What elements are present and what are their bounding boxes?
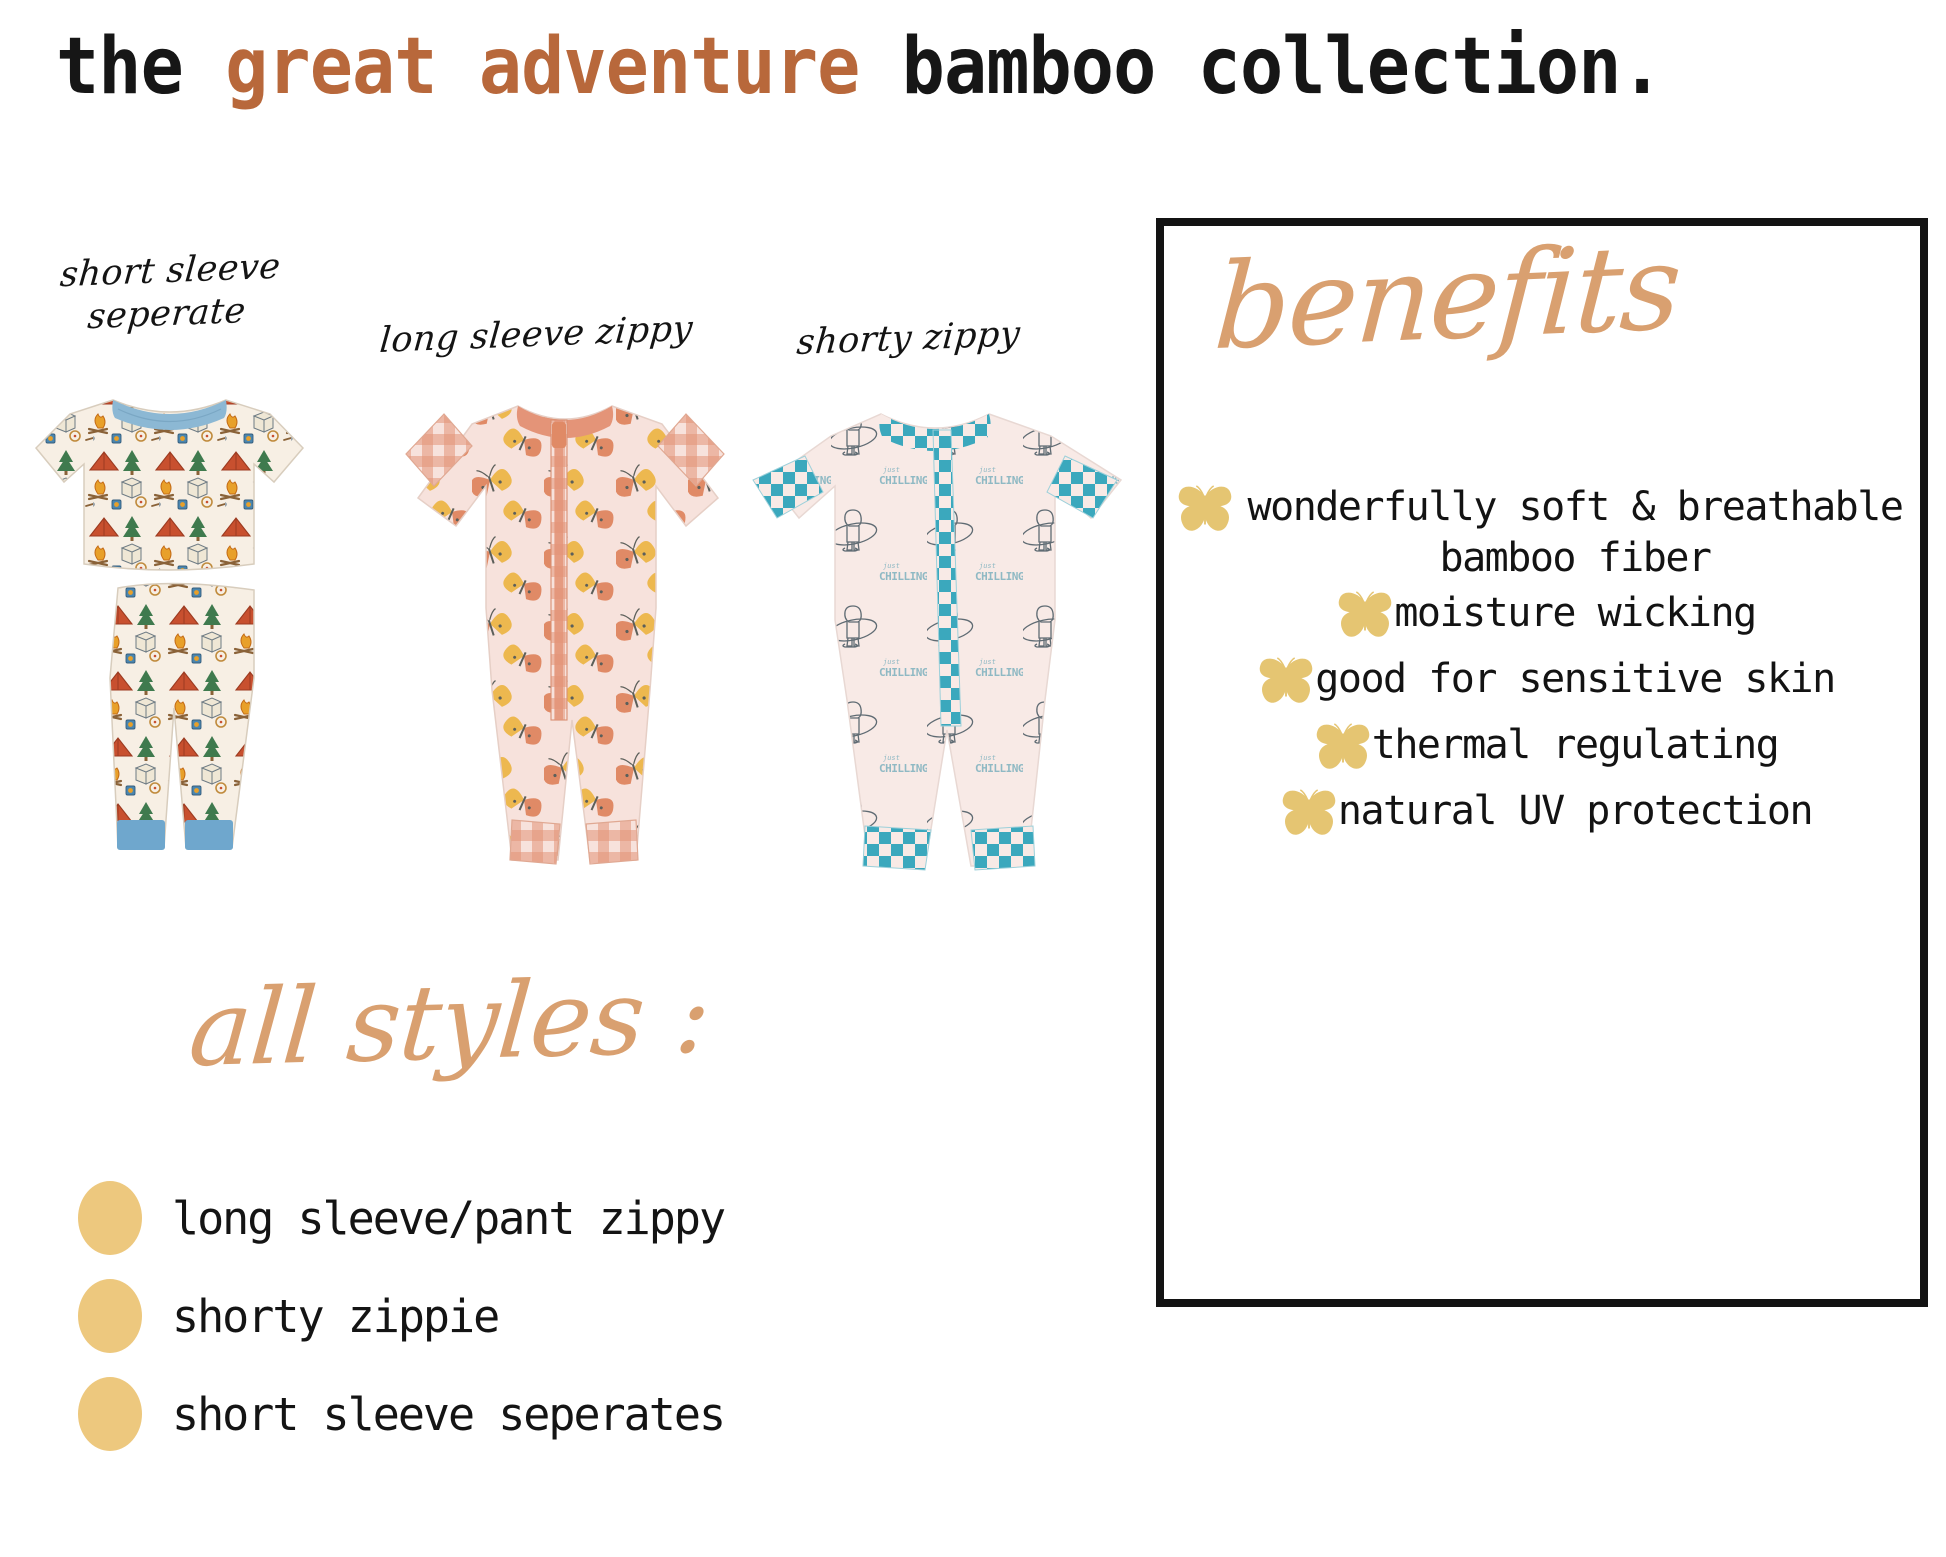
benefit-item: natural UV protection [1176,784,1916,848]
product-label-long-sleeve-zippy: long sleeve zippy [378,308,695,363]
benefit-text: wonderfully soft & breathable bamboo fib… [1234,480,1916,584]
benefits-heading: benefits [1211,217,1684,376]
all-styles-heading: all styles : [185,954,714,1090]
benefit-item: good for sensitive skin [1176,652,1916,716]
product-label-short-sleeve-seperate: short sleeve seperate [40,245,297,340]
product-image-long-sleeve-zippy[interactable] [400,390,730,880]
butterfly-icon [1257,656,1315,710]
page-title-highlight: great adventure [225,22,859,112]
chilling-romper [753,414,1121,870]
benefit-text: thermal regulating [1372,718,1778,771]
style-item: short sleeve seperates [78,1376,978,1452]
product-image-shorty-zippy[interactable]: just CHILLING [735,400,1135,890]
style-item: long sleeve/pant zippy [78,1180,978,1256]
benefit-text: good for sensitive skin [1315,652,1834,705]
butterfly-icon [1336,590,1394,644]
butterfly-icon [1314,722,1372,776]
benefit-item: thermal regulating [1176,718,1916,782]
benefit-text: natural UV protection [1338,784,1812,837]
butterfly-icon [1280,788,1338,842]
page-title-part2: bamboo collection. [859,22,1662,112]
style-label: shorty zippie [172,1290,498,1343]
butterfly-icon [1176,484,1234,538]
camp-tee [36,400,303,570]
circle-bullet-icon [78,1279,142,1353]
style-label: short sleeve seperates [172,1388,724,1441]
all-styles-list: long sleeve/pant zippy shorty zippie sho… [78,1180,978,1474]
product-image-short-sleeve-seperate[interactable] [18,378,338,888]
butterfly-romper [406,406,724,864]
benefit-item: wonderfully soft & breathable bamboo fib… [1176,480,1916,584]
page-title-part1: the [56,22,225,112]
benefit-text: moisture wicking [1394,586,1755,639]
camp-pants [110,583,254,850]
benefits-list: wonderfully soft & breathable bamboo fib… [1176,480,1916,850]
shorty-zippy-illustration: just CHILLING [735,400,1135,890]
short-sleeve-seperate-illustration [18,378,338,888]
circle-bullet-icon [78,1377,142,1451]
product-label-shorty-zippy: shorty zippy [795,313,1022,364]
page-title: the great adventure bamboo collection. [56,22,1663,112]
benefit-item: moisture wicking [1176,586,1916,650]
long-sleeve-zippy-illustration [400,390,730,880]
circle-bullet-icon [78,1181,142,1255]
style-item: shorty zippie [78,1278,978,1354]
style-label: long sleeve/pant zippy [172,1192,724,1245]
